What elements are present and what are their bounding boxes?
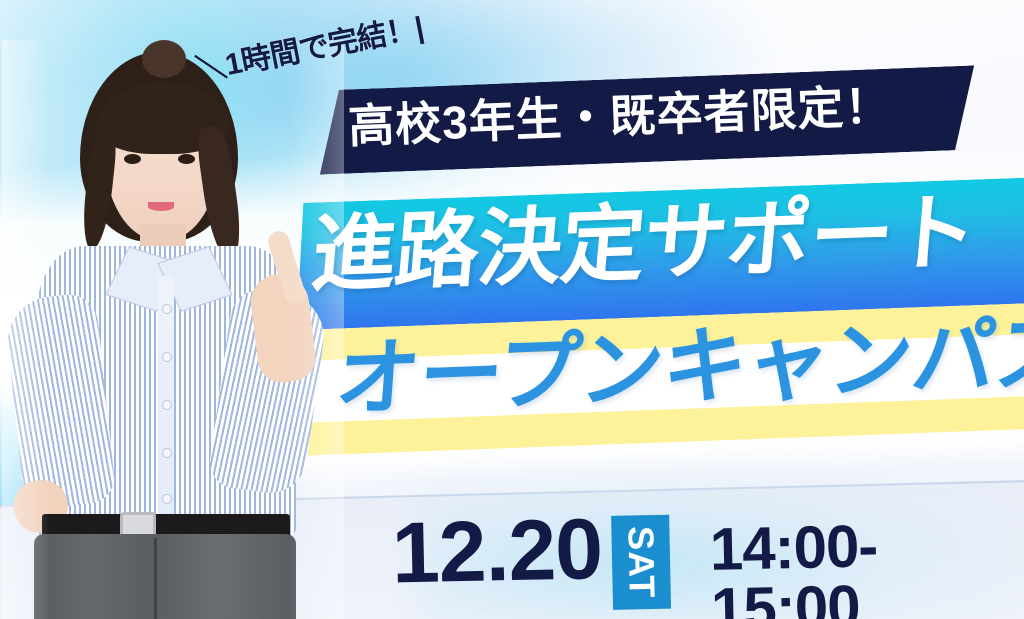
presenter-shirt-button — [162, 448, 172, 458]
event-date: 12.20 — [391, 506, 603, 596]
open-campus-banner: ＼1時間で完結！| 高校3年生・既卒者限定！ 進路決定サポート オープンキャンパ… — [0, 0, 1024, 619]
presenter-eye-left — [124, 154, 141, 164]
event-schedule-row: 12.20 SAT 14:00-15:00 — [0, 489, 1024, 619]
headline-support: 進路決定サポート — [309, 187, 1024, 297]
presenter-hair-bun — [142, 40, 186, 78]
presenter-shirt-button — [162, 494, 172, 504]
day-of-week-badge: SAT — [611, 515, 671, 610]
presenter-shirt-button — [162, 304, 172, 314]
presenter-mouth — [148, 202, 174, 211]
event-time-range: 14:00-15:00 — [709, 513, 1024, 619]
presenter-shirt-button — [162, 352, 172, 362]
day-of-week-label: SAT — [622, 526, 660, 599]
presenter-shirt-button — [162, 400, 172, 410]
presenter-eye-right — [178, 154, 195, 164]
